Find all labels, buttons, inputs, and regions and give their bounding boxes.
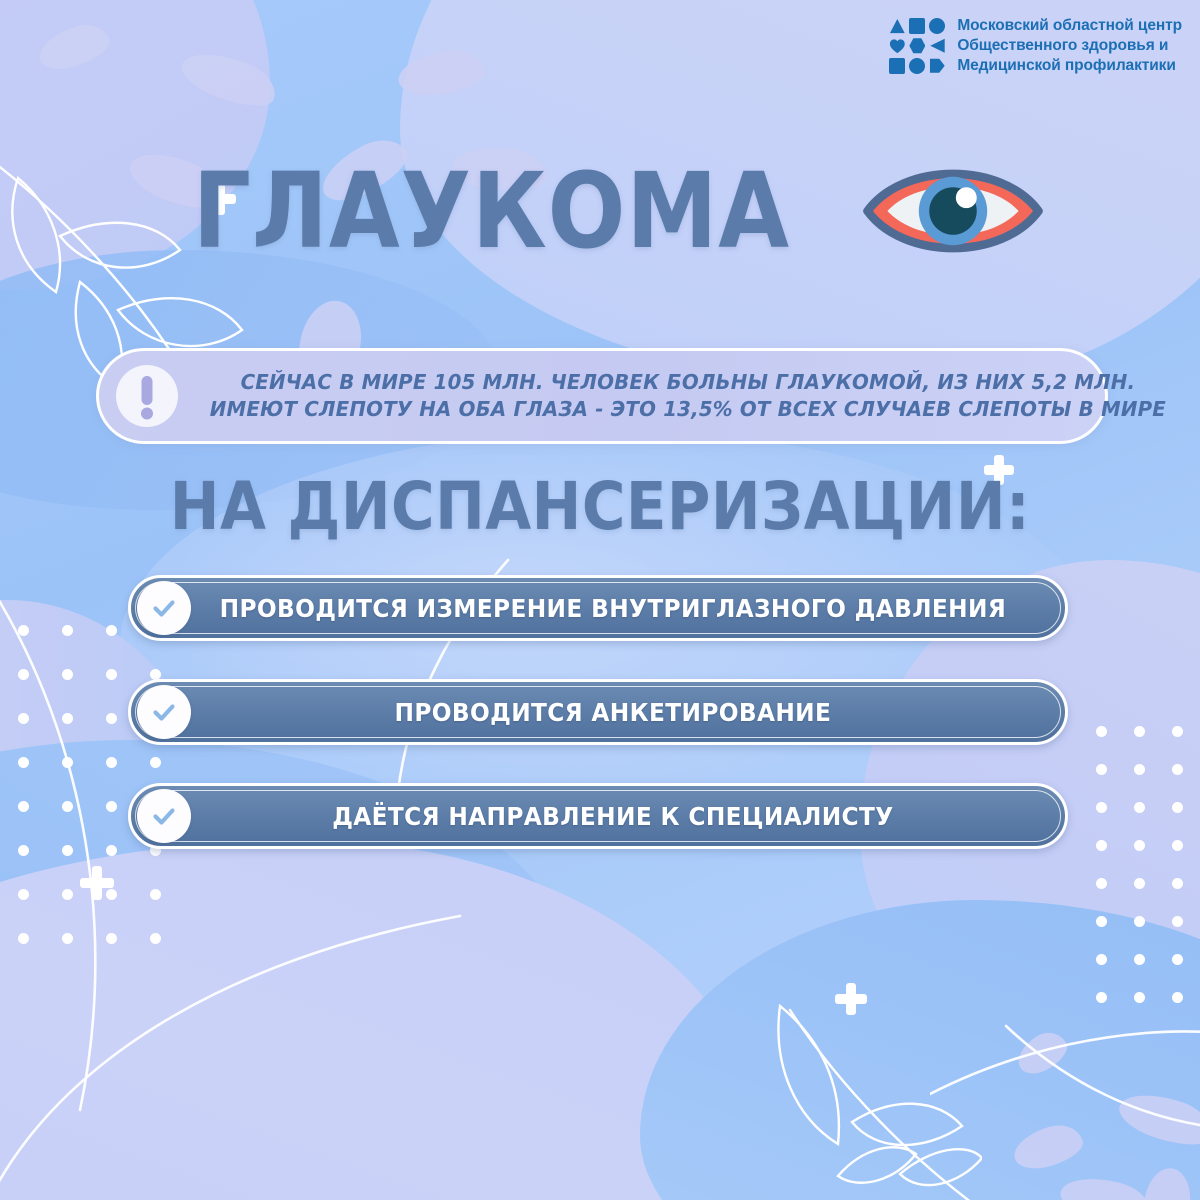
- checklist-item[interactable]: ДАЁТСЯ НАПРАВЛЕНИЕ К СПЕЦИАЛИСТУ: [128, 783, 1068, 849]
- alert-line-1: СЕЙЧАС В МИРЕ 105 МЛН. ЧЕЛОВЕК БОЛЬНЫ ГЛ…: [210, 369, 1166, 396]
- logo-hexagon-icon: [909, 38, 925, 54]
- checklist-item-label: ДАЁТСЯ НАПРАВЛЕНИЕ К СПЕЦИАЛИСТУ: [164, 802, 1033, 831]
- eye-icon: [858, 152, 1048, 270]
- petal-shape: [1114, 1084, 1200, 1154]
- logo-shapes-grid-icon: [889, 18, 945, 74]
- check-circle-icon: [137, 685, 191, 739]
- petal-shape: [395, 46, 486, 100]
- checklist-item[interactable]: ПРОВОДИТСЯ ИЗМЕРЕНИЕ ВНУТРИГЛАЗНОГО ДАВЛ…: [128, 575, 1068, 641]
- org-name-line-2: Общественного здоровья и: [957, 36, 1182, 56]
- logo-square-icon: [889, 58, 905, 74]
- logo-heart-icon: [889, 38, 905, 54]
- dot-grid-right: [1096, 726, 1200, 1030]
- check-circle-icon: [137, 789, 191, 843]
- org-name-line-1: Московский областной центр: [957, 16, 1182, 36]
- background-blob-bottom-left: [0, 840, 760, 1200]
- organization-name: Московский областной центр Общественного…: [957, 16, 1182, 75]
- org-name-line-3: Медицинской профилактики: [957, 56, 1182, 76]
- petal-shape: [1009, 1119, 1087, 1175]
- petal-shape: [176, 43, 282, 116]
- section-heading: НА ДИСПАНСЕРИЗАЦИИ:: [60, 468, 1140, 545]
- infographic-poster: Московский областной центр Общественного…: [0, 0, 1200, 1200]
- decorative-arc: [0, 880, 510, 1200]
- background-blob-blue-bottom-right: [640, 900, 1200, 1200]
- check-circle-icon: [137, 581, 191, 635]
- checklist-item-label: ПРОВОДИТСЯ ИЗМЕРЕНИЕ ВНУТРИГЛАЗНОГО ДАВЛ…: [164, 594, 1033, 623]
- alert-banner: СЕЙЧАС В МИРЕ 105 МЛН. ЧЕЛОВЕК БОЛЬНЫ ГЛ…: [96, 348, 1108, 444]
- checklist-item[interactable]: ПРОВОДИТСЯ АНКЕТИРОВАНИЕ: [128, 679, 1068, 745]
- decorative-arc: [1000, 1020, 1200, 1140]
- page-title: ГЛАУКОМА: [192, 159, 789, 263]
- plus-mark-icon: [835, 983, 867, 1015]
- petal-shape: [34, 18, 114, 76]
- logo-arrow-icon: [929, 58, 945, 74]
- decorative-arc: [930, 1022, 1200, 1102]
- plus-mark-icon: [80, 866, 114, 900]
- logo-square-icon: [909, 18, 925, 34]
- petal-shape: [1137, 1165, 1195, 1200]
- logo-triangle-icon: [889, 18, 905, 34]
- alert-text: СЕЙЧАС В МИРЕ 105 МЛН. ЧЕЛОВЕК БОЛЬНЫ ГЛ…: [210, 369, 1166, 423]
- checklist-item-label: ПРОВОДИТСЯ АНКЕТИРОВАНИЕ: [164, 698, 1033, 727]
- petal-shape: [1056, 1169, 1155, 1200]
- logo-circle-icon: [929, 18, 945, 34]
- organization-logo: Московский областной центр Общественного…: [889, 16, 1182, 75]
- title-row: ГЛАУКОМА: [0, 152, 1200, 270]
- exclamation-circle-icon: [113, 362, 181, 430]
- logo-left-triangle-icon: [929, 38, 945, 54]
- logo-circle-icon: [909, 58, 925, 74]
- alert-line-2: ИМЕЮТ СЛЕПОТУ НА ОБА ГЛАЗА - ЭТО 13,5% О…: [210, 396, 1166, 423]
- petal-shape: [1011, 1025, 1073, 1080]
- leaf-branch-icon: [662, 962, 982, 1200]
- checklist: ПРОВОДИТСЯ ИЗМЕРЕНИЕ ВНУТРИГЛАЗНОГО ДАВЛ…: [128, 575, 1068, 849]
